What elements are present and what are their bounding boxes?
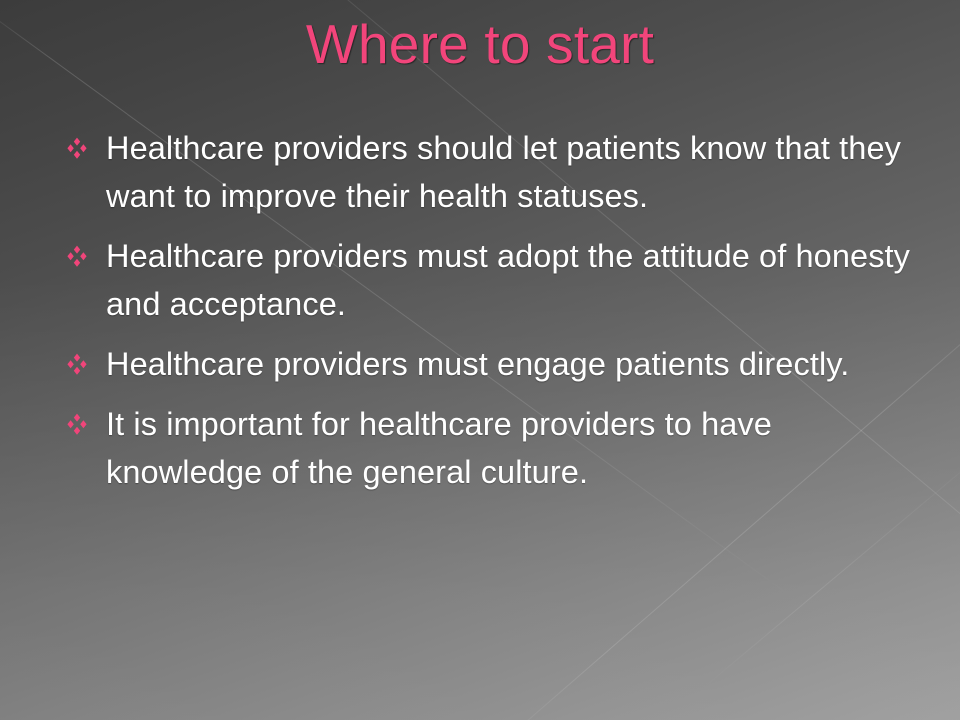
- slide-content: Where to start Healthcare providers shou…: [0, 0, 960, 720]
- four-diamond-bullet-icon: [66, 353, 88, 375]
- bullet-list: Healthcare providers should let patients…: [60, 124, 920, 508]
- bullet-list-item: Healthcare providers must engage patient…: [60, 340, 920, 388]
- bullet-list-item-text: It is important for healthcare providers…: [106, 406, 772, 490]
- bullet-list-item: Healthcare providers should let patients…: [60, 124, 920, 220]
- four-diamond-bullet-icon: [66, 245, 88, 267]
- slide-title: Where to start: [0, 14, 960, 76]
- bullet-list-item-text: Healthcare providers must engage patient…: [106, 346, 849, 382]
- bullet-list-item: It is important for healthcare providers…: [60, 400, 920, 496]
- bullet-list-item-text: Healthcare providers must adopt the atti…: [106, 238, 910, 322]
- bullet-list-item: Healthcare providers must adopt the atti…: [60, 232, 920, 328]
- bullet-list-item-text: Healthcare providers should let patients…: [106, 130, 901, 214]
- presentation-slide: Where to start Healthcare providers shou…: [0, 0, 960, 720]
- four-diamond-bullet-icon: [66, 137, 88, 159]
- four-diamond-bullet-icon: [66, 413, 88, 435]
